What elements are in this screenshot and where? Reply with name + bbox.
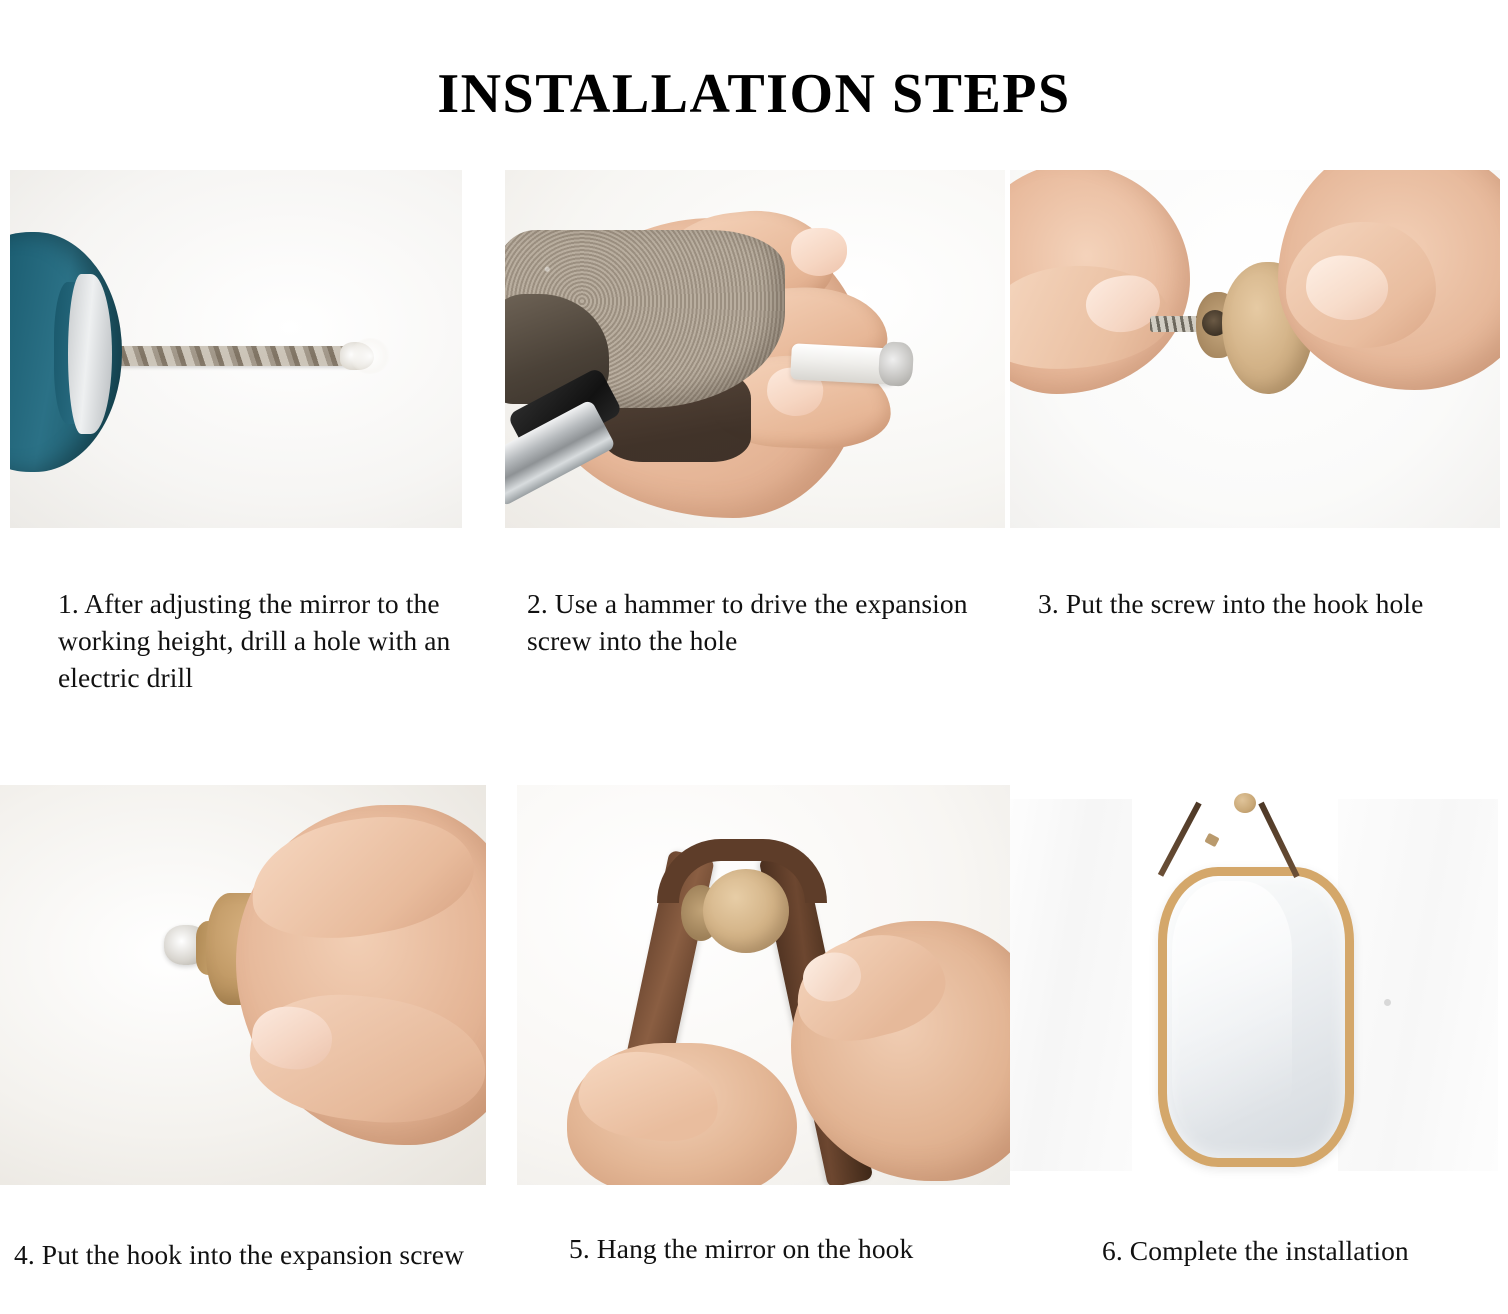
fingernail-icon	[791, 228, 847, 276]
step-card-3: 3. Put the screw into the hook hole	[1010, 170, 1508, 623]
leather-strap-icon	[1158, 801, 1202, 876]
step-1-photo	[10, 170, 462, 528]
step-1-caption: 1. After adjusting the mirror to the wor…	[58, 586, 458, 697]
wall-mark	[1384, 999, 1391, 1006]
step-4-caption: 4. Put the hook into the expansion screw	[14, 1237, 494, 1274]
step-card-5: 5. Hang the mirror on the hook	[505, 785, 1010, 1268]
drill-bit-icon	[106, 346, 358, 366]
wall-panel-right	[1338, 799, 1498, 1171]
steps-row-top: 1. After adjusting the mirror to the wor…	[0, 170, 1508, 697]
drill-chuck-icon	[68, 274, 112, 434]
step-2-caption: 2. Use a hammer to drive the expansion s…	[527, 586, 997, 660]
step-3-photo	[1010, 170, 1500, 528]
strap-buckle-icon	[1204, 832, 1219, 846]
expansion-screw-tip-icon	[878, 341, 914, 387]
header: INSTALLATION STEPS	[0, 0, 1508, 170]
step-5-photo	[517, 785, 1010, 1185]
step-card-2: 2. Use a hammer to drive the expansion s…	[505, 170, 1010, 660]
mirror-frame	[1158, 867, 1354, 1167]
wooden-hook-icon	[703, 869, 789, 953]
step-6-photo	[1010, 785, 1498, 1185]
step-card-4: 4. Put the hook into the expansion screw	[0, 785, 505, 1274]
page-title: INSTALLATION STEPS	[437, 62, 1070, 126]
step-2-photo	[505, 170, 1005, 528]
step-5-caption: 5. Hang the mirror on the hook	[569, 1231, 999, 1268]
installation-steps-grid: 1. After adjusting the mirror to the wor…	[0, 170, 1508, 1273]
step-3-caption: 3. Put the screw into the hook hole	[1038, 586, 1498, 623]
step-6-caption: 6. Complete the installation	[1102, 1233, 1502, 1270]
steps-row-bottom: 4. Put the hook into the expansion screw…	[0, 785, 1508, 1274]
wooden-hook-icon	[1234, 793, 1256, 813]
wall-panel-left	[1010, 799, 1132, 1171]
drill-dust-icon	[350, 338, 390, 374]
step-card-6: 6. Complete the installation	[1010, 785, 1508, 1270]
step-4-photo	[0, 785, 486, 1185]
step-card-1: 1. After adjusting the mirror to the wor…	[0, 170, 505, 697]
